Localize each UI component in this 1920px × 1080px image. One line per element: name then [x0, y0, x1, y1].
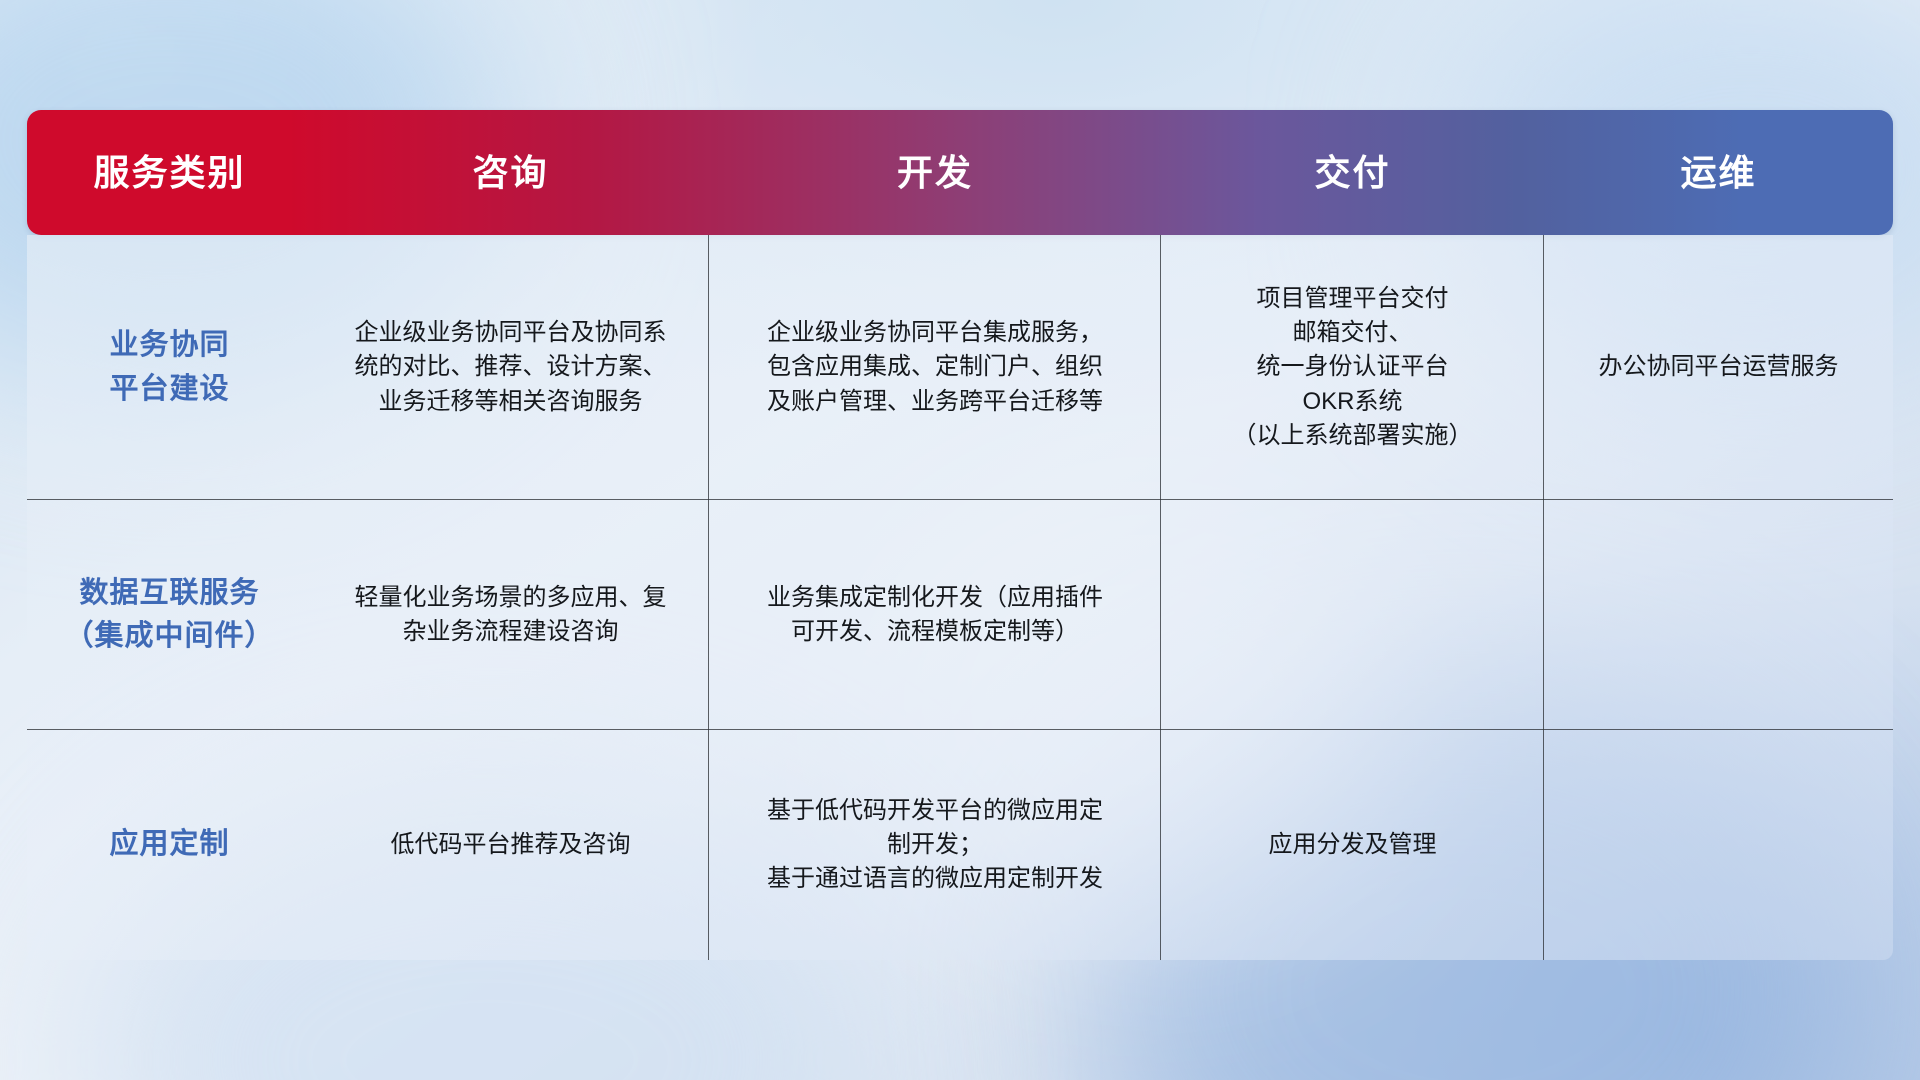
row-2-development-cell: 业务集成定制化开发（应用插件 可开发、流程模板定制等） [709, 500, 1161, 730]
table-body: 业务协同 平台建设 企业级业务协同平台及协同系 统的对比、推荐、设计方案、 业务… [27, 235, 1893, 960]
row-2-development-text: 业务集成定制化开发（应用插件 可开发、流程模板定制等） [767, 581, 1103, 649]
row-1-category-label: 业务协同 平台建设 [109, 324, 229, 411]
row-3-delivery-cell: 应用分发及管理 [1161, 730, 1544, 960]
row-1-development-text: 企业级业务协同平台集成服务， 包含应用集成、定制门户、组织 及账户管理、业务跨平… [767, 316, 1103, 418]
row-1-operations-cell: 办公协同平台运营服务 [1544, 235, 1893, 500]
row-2-consulting-text: 轻量化业务场景的多应用、复 杂业务流程建设咨询 [355, 581, 667, 649]
row-1-delivery-text: 项目管理平台交付 邮箱交付、 统一身份认证平台 OKR系统 （以上系统部署实施） [1233, 282, 1473, 452]
row-3-development-cell: 基于低代码开发平台的微应用定 制开发； 基于通过语言的微应用定制开发 [709, 730, 1161, 960]
row-3-category-label: 应用定制 [109, 823, 229, 867]
row-1-delivery-cell: 项目管理平台交付 邮箱交付、 统一身份认证平台 OKR系统 （以上系统部署实施） [1161, 235, 1544, 500]
column-header-consulting: 咨询 [312, 155, 709, 191]
row-3-delivery-text: 应用分发及管理 [1269, 828, 1437, 862]
row-3-category-cell: 应用定制 [27, 730, 312, 960]
row-3-consulting-text: 低代码平台推荐及咨询 [391, 828, 631, 862]
column-header-development: 开发 [709, 155, 1161, 191]
table-row: 应用定制 低代码平台推荐及咨询 基于低代码开发平台的微应用定 制开发； 基于通过… [27, 730, 1893, 960]
row-1-consulting-cell: 企业级业务协同平台及协同系 统的对比、推荐、设计方案、 业务迁移等相关咨询服务 [312, 235, 709, 500]
row-1-consulting-text: 企业级业务协同平台及协同系 统的对比、推荐、设计方案、 业务迁移等相关咨询服务 [355, 316, 667, 418]
row-2-delivery-cell [1161, 500, 1544, 730]
row-2-consulting-cell: 轻量化业务场景的多应用、复 杂业务流程建设咨询 [312, 500, 709, 730]
table-row: 数据互联服务 （集成中间件） 轻量化业务场景的多应用、复 杂业务流程建设咨询 业… [27, 500, 1893, 730]
service-matrix-table: 服务类别 咨询 开发 交付 运维 业务协同 平台建设 企业级业务协同平台及协同系… [27, 110, 1893, 960]
row-1-category-cell: 业务协同 平台建设 [27, 235, 312, 500]
slide-canvas: 服务类别 咨询 开发 交付 运维 业务协同 平台建设 企业级业务协同平台及协同系… [0, 0, 1920, 1080]
row-2-category-label: 数据互联服务 （集成中间件） [64, 572, 274, 659]
column-header-operations: 运维 [1544, 155, 1893, 191]
table-row: 业务协同 平台建设 企业级业务协同平台及协同系 统的对比、推荐、设计方案、 业务… [27, 235, 1893, 500]
row-2-category-cell: 数据互联服务 （集成中间件） [27, 500, 312, 730]
row-1-operations-text: 办公协同平台运营服务 [1599, 350, 1839, 384]
column-header-category: 服务类别 [27, 155, 312, 191]
row-1-development-cell: 企业级业务协同平台集成服务， 包含应用集成、定制门户、组织 及账户管理、业务跨平… [709, 235, 1161, 500]
table-header-row: 服务类别 咨询 开发 交付 运维 [27, 110, 1893, 235]
row-2-operations-cell [1544, 500, 1893, 730]
row-3-consulting-cell: 低代码平台推荐及咨询 [312, 730, 709, 960]
row-3-operations-cell [1544, 730, 1893, 960]
column-header-delivery: 交付 [1161, 155, 1544, 191]
row-3-development-text: 基于低代码开发平台的微应用定 制开发； 基于通过语言的微应用定制开发 [767, 794, 1103, 896]
